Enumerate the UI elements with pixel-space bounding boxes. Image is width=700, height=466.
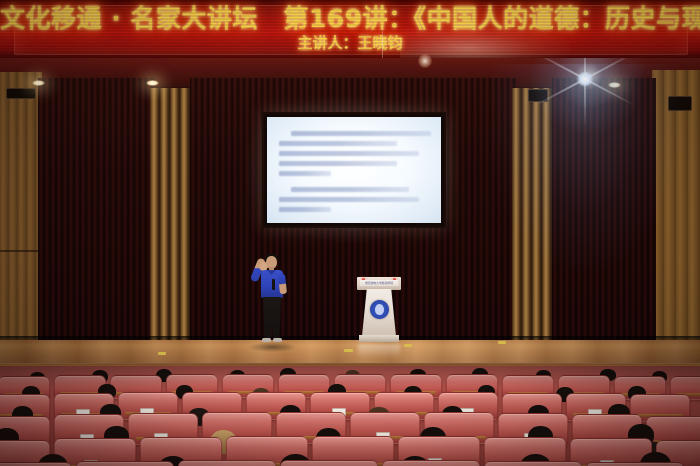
floor-marker-tape <box>344 349 353 352</box>
presenter-trousers <box>263 297 281 339</box>
stage-curtain-left <box>38 78 156 346</box>
slide-text-line <box>291 187 409 192</box>
floor-marker-tape <box>404 344 412 347</box>
projection-screen-surface: （blurred Chinese lecture slide text — il… <box>267 117 441 223</box>
stage-spotlight <box>576 72 594 86</box>
wood-wall-right <box>652 70 700 346</box>
microphone-icon <box>272 279 275 290</box>
led-banner: 文化移通 · 名家大讲坛 第169讲：《中国人的道德：历史与现实》 主讲人：王晓… <box>0 0 700 58</box>
ceiling-downlight <box>608 82 621 88</box>
slide-text-line <box>279 141 397 146</box>
ceiling-downlight <box>146 80 159 86</box>
slide-text-line <box>291 131 431 136</box>
university-crest-icon <box>370 300 389 319</box>
ceiling-speaker-box <box>668 96 692 111</box>
floor-marker-tape <box>158 352 166 355</box>
auditorium-seat <box>280 460 378 466</box>
stage-curtain-right <box>552 78 656 346</box>
podium-base <box>359 335 399 342</box>
slide-text-line <box>279 161 397 166</box>
slide-text-line <box>279 171 331 176</box>
podium-top: 重庆邮电大学移通学院 <box>357 277 401 290</box>
floor-marker-tape <box>498 341 506 344</box>
presenter-on-stage <box>252 252 292 344</box>
auditorium-seat <box>382 460 480 466</box>
ceiling-speaker-box <box>528 89 548 102</box>
podium-banner-text: 重庆邮电大学移通学院 <box>360 280 398 286</box>
slide-text-line <box>279 151 419 156</box>
auditorium-seat <box>76 461 174 466</box>
auditorium-photo: （blurred Chinese lecture slide text — il… <box>0 0 700 466</box>
slide-text-line <box>279 207 331 212</box>
wall-panel-seam <box>0 250 42 252</box>
seated-audience <box>0 366 700 466</box>
auditorium-seat <box>0 462 72 466</box>
ceiling-speaker-box <box>6 88 36 99</box>
ceiling-downlight <box>32 80 45 86</box>
led-banner-subtitle: 主讲人：王晓钧 <box>0 34 700 53</box>
led-banner-title: 文化移通 · 名家大讲坛 第169讲：《中国人的道德：历史与现实》 <box>0 4 700 34</box>
slide-text-line <box>279 197 419 202</box>
presenter-lower-arm <box>278 274 287 295</box>
auditorium-seat <box>178 460 276 466</box>
auditorium-seat <box>484 461 582 466</box>
auditorium-seat <box>586 462 684 466</box>
wood-wall-left <box>0 72 42 344</box>
projection-screen: （blurred Chinese lecture slide text — il… <box>262 112 446 228</box>
speaker-podium: 重庆邮电大学移通学院 <box>357 277 401 344</box>
presenter-shoe <box>262 338 271 342</box>
presenter-shoe <box>273 338 282 342</box>
